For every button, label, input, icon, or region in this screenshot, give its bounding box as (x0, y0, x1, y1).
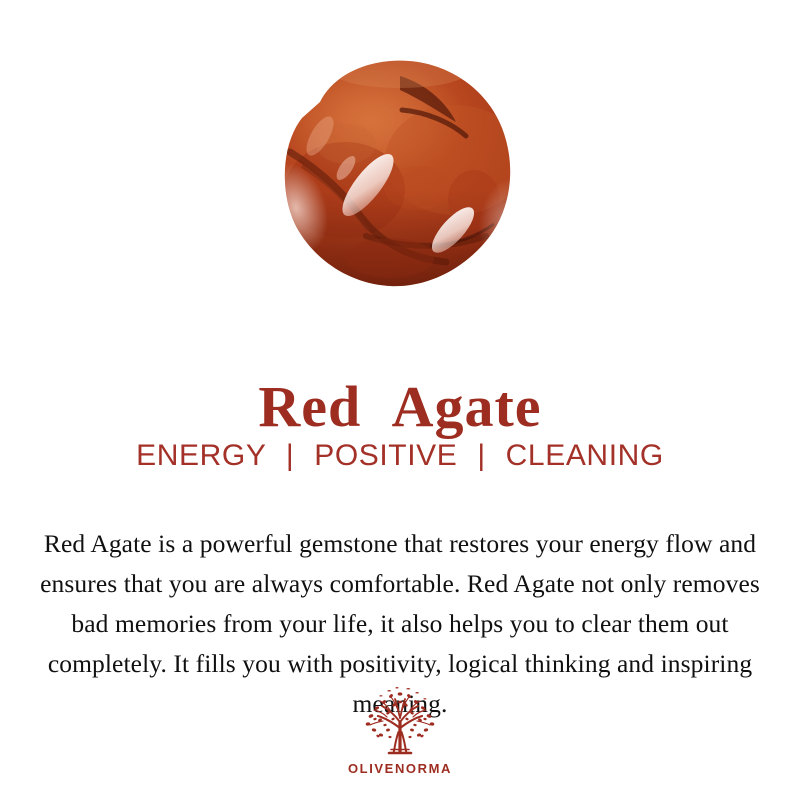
product-info-card: Red Agate ENERGY | POSITIVE | CLEANING R… (0, 0, 800, 800)
keyword-separator: | (275, 438, 305, 474)
keyword-list: ENERGY | POSITIVE | CLEANING (0, 438, 800, 474)
tree-of-life-icon (357, 686, 443, 760)
page-title: Red Agate (0, 377, 800, 438)
tree-birds (379, 687, 427, 699)
keyword-separator: | (466, 438, 496, 474)
stone-body (250, 40, 550, 300)
brand-wordmark: OLIVENORMA (0, 761, 800, 776)
keyword-energy: ENERGY (136, 439, 266, 472)
keyword-cleaning: CLEANING (506, 439, 664, 472)
product-image (0, 40, 800, 310)
keyword-positive: POSITIVE (314, 439, 457, 472)
red-agate-stone-illustration (250, 40, 550, 300)
brand-logo: OLIVENORMA (0, 686, 800, 776)
